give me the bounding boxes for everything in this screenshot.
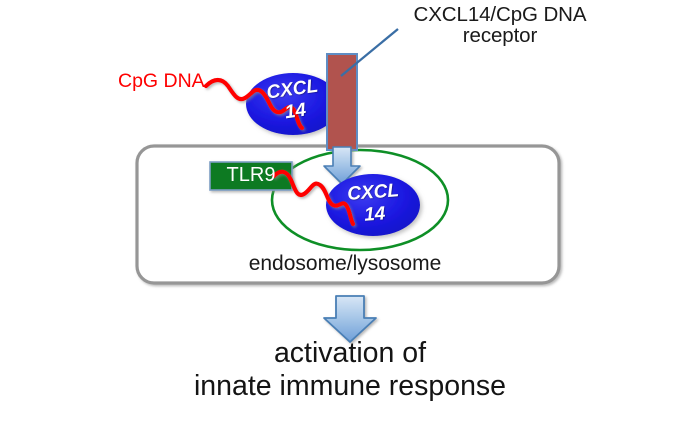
- receptor-callout-label: CXCL14/CpG DNA receptor: [350, 4, 650, 47]
- ligand-inner-label: CXCL 14: [336, 179, 413, 228]
- tlr9-label: TLR9: [212, 165, 290, 186]
- diagram-canvas: CXCL14/CpG DNA receptor CpG DNA CXCL 14 …: [0, 0, 700, 433]
- outcome-text-line2: innate immune response: [120, 370, 580, 403]
- outcome-text-line1: activation of: [120, 337, 580, 370]
- receptor-callout-line2: receptor: [350, 25, 650, 46]
- ligand-inner-label-line1: CXCL: [347, 180, 400, 205]
- outcome-text: activation of innate immune response: [120, 337, 580, 403]
- outcome-arrow: [324, 296, 376, 342]
- receptor-callout-line1: CXCL14/CpG DNA: [350, 4, 650, 25]
- endosome-label: endosome/lysosome: [180, 253, 510, 275]
- cpg-dna-label: CpG DNA: [118, 71, 205, 91]
